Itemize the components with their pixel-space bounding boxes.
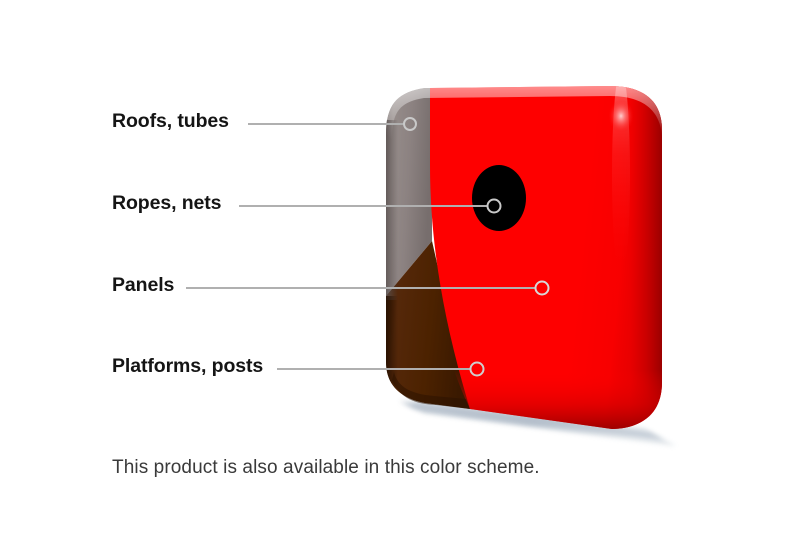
callout-label-panels: Panels (112, 276, 174, 296)
callout-label-ropes-nets: Ropes, nets (112, 194, 221, 214)
left-edge-bevel-brown (386, 296, 398, 406)
diagram-canvas: Roofs, tubes Ropes, nets Panels Platform… (0, 0, 800, 533)
product-illustration (0, 0, 800, 533)
callout-label-roofs-tubes: Roofs, tubes (112, 112, 229, 132)
product-tile (386, 70, 662, 432)
left-edge-bevel-gray (386, 120, 398, 300)
red-front-face (430, 70, 662, 432)
callout-label-platforms-posts: Platforms, posts (112, 357, 263, 377)
caption-text: This product is also available in this c… (112, 457, 540, 479)
black-ellipse (472, 165, 526, 231)
